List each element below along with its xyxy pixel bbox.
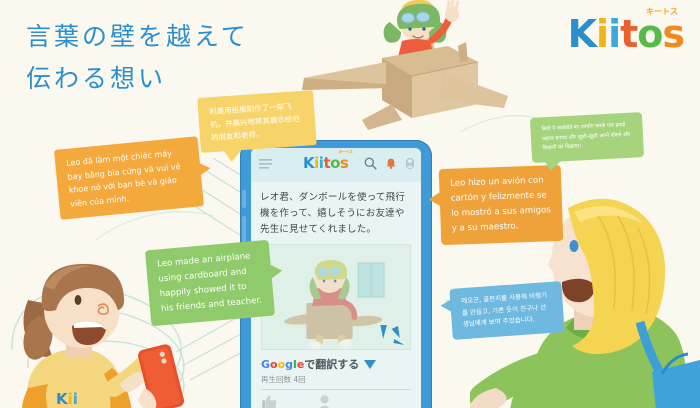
translate-button[interactable]: Googleで翻訳する bbox=[261, 356, 411, 372]
page-title: 言葉の壁を越えて 伝わる想い bbox=[26, 16, 249, 100]
speech-bubble-english[interactable]: Leo made an airplane using cardboard and… bbox=[145, 240, 275, 327]
bubble-text-english: Leo made an airplane using cardboard and… bbox=[157, 249, 264, 318]
bubble-text-korean: 레오군, 골판지를 사용해 비행기를 만들고, 기쁜 듯이 친구나 선생님에게 … bbox=[461, 290, 553, 331]
shirt-brand-mark: Kii bbox=[56, 390, 78, 408]
logo-letter-s: s bbox=[662, 12, 684, 56]
app-logo-letter-o: o bbox=[330, 154, 340, 172]
app-header: キートス Kiitos bbox=[251, 148, 421, 182]
bubble-text-chinese: 利奥用纸板制作了一架飞机，并高兴地将其展示给他的朋友和老师。 bbox=[209, 99, 305, 144]
logo-letter-i2: i bbox=[608, 12, 620, 56]
speech-bubble-hindi[interactable]: लियो ने कार्डबोर्ड का उपयोग करके एक हवाई… bbox=[530, 112, 644, 162]
speech-bubble-vietnamese[interactable]: Leo đã làm một chiếc máy bay bằng bìa cứ… bbox=[54, 136, 204, 219]
post-caption: レオ君、ダンボールを使って飛行機を作って、嬉しそうにお友達や先生に見せてくれまし… bbox=[251, 182, 421, 242]
app-logo: キートス Kiitos bbox=[303, 154, 348, 172]
brand-logo: キートス Kiitos bbox=[568, 14, 684, 54]
profile-icon[interactable] bbox=[405, 157, 415, 170]
poster-canvas: 言葉の壁を越えて 伝わる想い キートス Kiitos bbox=[0, 0, 700, 408]
bubble-text-hindi: लियो ने कार्डबोर्ड का उपयोग करके एक हवाई… bbox=[541, 121, 632, 154]
speech-bubble-korean[interactable]: 레오군, 골판지를 사용해 비행기를 만들고, 기쁜 듯이 친구나 선생님에게 … bbox=[449, 281, 564, 339]
post-actions bbox=[261, 394, 411, 408]
search-icon[interactable] bbox=[364, 157, 377, 170]
app-logo-kana: キートス bbox=[338, 149, 352, 155]
logo-letter-i1: i bbox=[596, 12, 608, 56]
headline-line-2: 伝わる想い bbox=[26, 58, 249, 100]
brand-logo-kana: キートス bbox=[646, 6, 678, 17]
post-photo[interactable] bbox=[261, 244, 411, 350]
thumbs-up-icon[interactable] bbox=[261, 394, 278, 408]
brand-logo-wordmark: Kiitos bbox=[568, 14, 684, 54]
translate-label-suffix: で翻訳する bbox=[304, 358, 359, 371]
logo-letter-t: t bbox=[620, 12, 637, 56]
phone-side-button-bottom bbox=[242, 216, 246, 244]
bubble-text-spanish: Leo hizo un avión con cartón y felizment… bbox=[450, 173, 552, 236]
app-logo-letter-k: K bbox=[303, 154, 314, 172]
play-count: 再生回数 4回 bbox=[261, 374, 411, 385]
logo-letter-k: K bbox=[568, 12, 596, 56]
bell-icon[interactable] bbox=[385, 157, 397, 170]
translate-label: Googleで翻訳する bbox=[261, 356, 359, 372]
cardboard-airplane-illustration bbox=[282, 0, 512, 136]
logo-letter-o: o bbox=[637, 12, 662, 56]
content-divider bbox=[261, 389, 411, 390]
chevron-down-icon[interactable] bbox=[364, 360, 376, 369]
speech-bubble-spanish[interactable]: Leo hizo un avión con cartón y felizment… bbox=[439, 165, 564, 245]
menu-icon[interactable] bbox=[259, 159, 272, 169]
headline-line-1: 言葉の壁を越えて bbox=[26, 16, 249, 58]
app-header-icons bbox=[364, 157, 415, 170]
app-logo-letter-s: s bbox=[340, 154, 348, 172]
phone-side-button-top bbox=[242, 190, 246, 208]
avatar-icon[interactable] bbox=[316, 394, 333, 408]
bubble-text-vietnamese: Leo đã làm một chiếc máy bay bằng bìa cứ… bbox=[66, 145, 193, 210]
